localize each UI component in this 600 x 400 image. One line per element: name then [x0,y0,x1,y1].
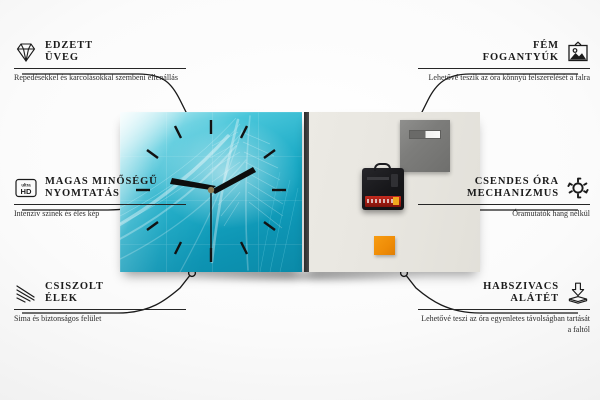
feature-habszivacs-alatet: HABSZIVACS ALÁTÉT Lehetővé teszi az óra … [418,281,590,335]
battery-label [367,199,393,203]
feature-csiszolt-elek: CSISZOLT ÉLEK Sima és biztonságos felüle… [14,281,186,325]
feature-title-line2: ÉLEK [45,293,104,305]
feature-title-line1: EDZETT [45,40,93,52]
feature-title-line2: ÜVEG [45,52,93,64]
metal-hanger-plate [400,120,450,172]
feature-description: Sima és biztonságos felület [14,314,186,325]
feature-csendes-ora-mechanizmus: CSENDES ÓRA MECHANIZMUS Óramutatók hang … [418,176,590,220]
picture-hanger-icon [566,40,590,64]
gear-icon [566,176,590,200]
feature-divider [14,204,186,205]
diamond-icon [14,40,38,64]
mechanism-slot [367,177,389,180]
mechanism-lug [374,163,391,171]
feature-title-line1: FÉM [483,40,559,52]
ultra-hd-icon: ultra HD [14,176,38,200]
foam-pad [374,236,395,255]
feature-description: Repedésekkel és karcolásokkal szembeni e… [14,73,186,84]
feature-divider [418,68,590,69]
polished-edges-icon [14,281,38,305]
feature-description: Óramutatók hang nélkül [418,209,590,220]
svg-text:HD: HD [21,187,32,196]
feature-title-line2: NYOMTATÁS [45,188,158,200]
feature-title-line1: CSENDES ÓRA [467,176,559,188]
feature-title-line1: MAGAS MINŐSÉGŰ [45,176,158,188]
feature-magas-minosegu-nyomtatas: ultra HD MAGAS MINŐSÉGŰ NYOMTATÁS Intenz… [14,176,186,220]
mechanism-slot-vertical [391,174,398,187]
feature-divider [418,309,590,310]
feature-edzett-uveg: EDZETT ÜVEG Repedésekkel és karcolásokka… [14,40,186,84]
clock-mechanism [362,168,404,210]
feature-title-line2: ALÁTÉT [483,293,559,305]
infographic-stage: EDZETT ÜVEG Repedésekkel és karcolásokka… [0,0,600,400]
feature-description: Intenzív színek és éles kép [14,209,186,220]
feature-description: Lehetővé teszik az óra könnyű felszerelé… [418,73,590,84]
feature-divider [14,309,186,310]
feature-title-line1: HABSZIVACS [483,281,559,293]
feature-title-line2: FOGANTYÚK [483,52,559,64]
feature-divider [14,68,186,69]
foam-pad-arrow-icon [566,281,590,305]
feature-description: Lehetővé teszi az óra egyenletes távolsá… [418,314,590,335]
feature-title-line1: CSISZOLT [45,281,104,293]
feature-fem-fogantyuk: FÉM FOGANTYÚK Lehetővé teszik az óra kön… [418,40,590,84]
feature-divider [418,204,590,205]
battery [365,196,401,207]
feature-title-line2: MECHANIZMUS [467,188,559,200]
panel-edge [304,112,309,272]
